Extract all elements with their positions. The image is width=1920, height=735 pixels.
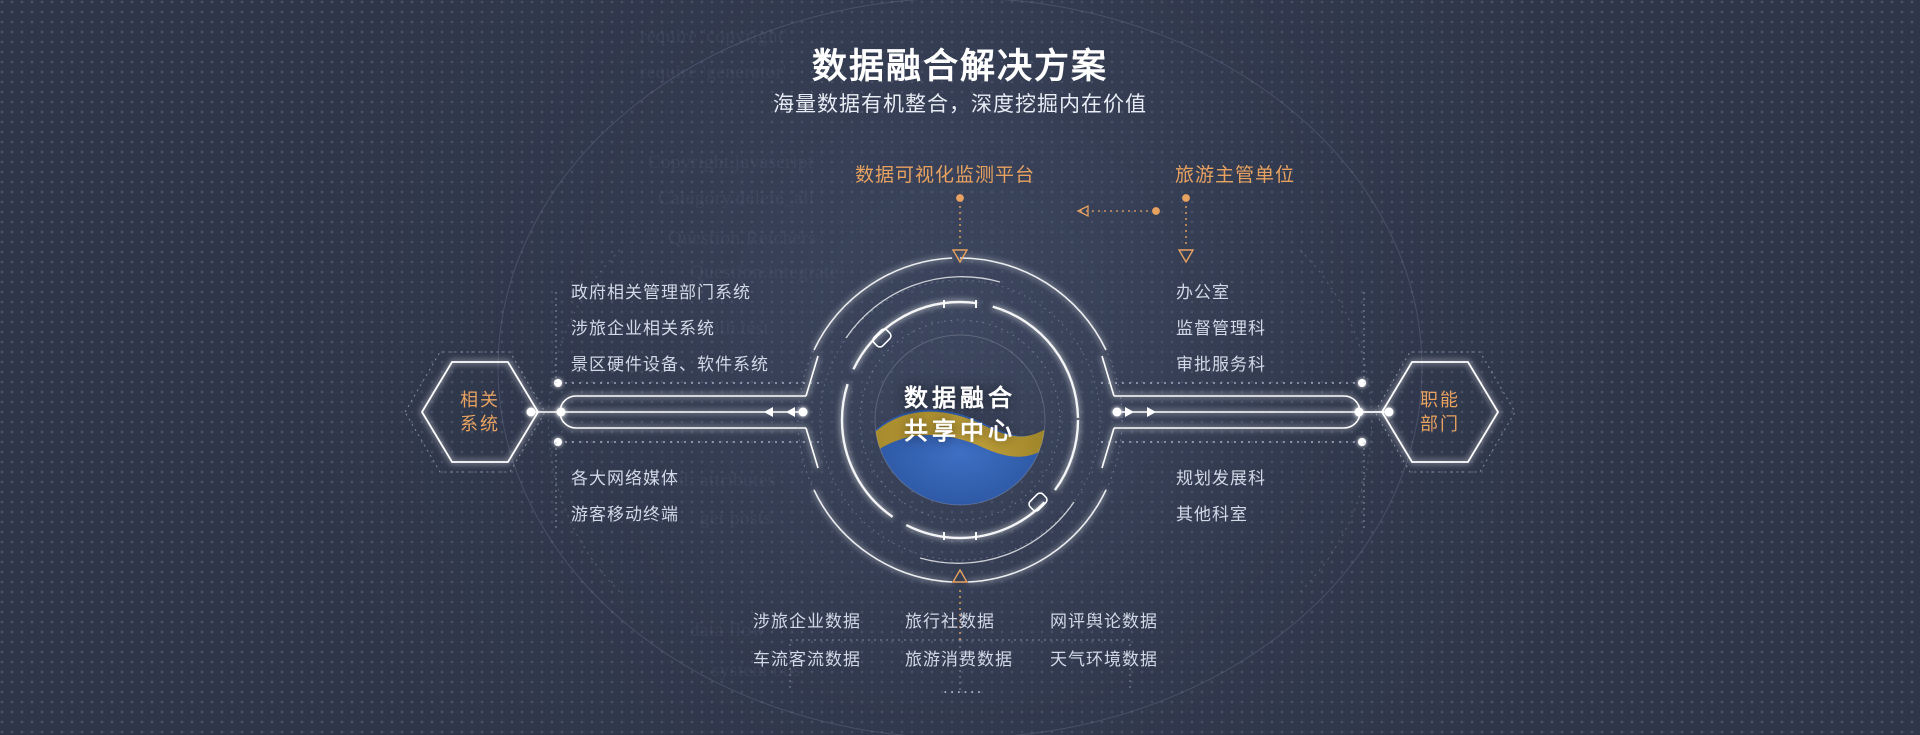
center-line-1: 数据融合 [815,382,1105,415]
bg-code-4: Category.delete_all [658,188,815,210]
node-tourism-authority[interactable]: 旅游主管单位 [1175,160,1295,187]
right-hexagon-node[interactable]: 职能 部门 [1375,353,1505,471]
infographic-canvas: require 'copyright' require 'generator' … [0,0,1920,735]
left-hexagon-line2: 系统 [460,412,500,436]
right-item-2: 审批服务科 [1176,350,1266,375]
left-item-2: 景区硬件设备、软件系统 [571,350,769,375]
right-connector-arrows [1113,407,1394,417]
left-connector-arrows [527,407,808,417]
node-data-visualization-platform[interactable]: 数据可视化监测平台 [855,160,1035,187]
bottom-item-3: 车流客流数据 [753,645,861,670]
left-item-1: 涉旅企业相关系统 [571,314,715,339]
bottom-item-2: 网评舆论数据 [1050,607,1158,632]
bottom-item-1: 旅行社数据 [905,607,995,632]
left-item-3: 各大网络媒体 [571,464,679,489]
bottom-item-0: 涉旅企业数据 [753,607,861,632]
orange-top-connector-right [1179,195,1193,262]
right-dotted-branches [1100,383,1362,442]
left-hexagon-line1: 相关 [460,388,500,412]
page-title: 数据融合解决方案 [0,38,1920,89]
orange-top-link [1078,206,1159,216]
right-item-0: 办公室 [1176,278,1230,303]
page-subtitle: 海量数据有机整合，深度挖掘内在价值 [0,88,1920,118]
left-branch-dots [554,379,562,446]
bottom-item-5: 天气环境数据 [1050,645,1158,670]
right-branch-dots [1358,379,1366,446]
bottom-ellipsis: ...... [943,678,983,698]
right-hexagon-line2: 部门 [1420,412,1460,436]
bg-code-5: Question.Retchers [668,228,816,250]
bottom-item-4: 旅游消费数据 [905,645,1013,670]
left-item-4: 游客移动终端 [571,500,679,525]
left-hexagon-text: 相关 系统 [415,353,545,471]
bg-code-9: get posts [700,508,772,530]
right-item-1: 监督管理科 [1176,314,1266,339]
ring-marker-bottom-right [1027,491,1048,512]
ring-marker-top-left [871,327,892,348]
left-dotted-branches [558,383,820,442]
right-hexagon-text: 职能 部门 [1375,353,1505,471]
center-line-2: 共享中心 [815,415,1105,448]
right-item-3: 规划发展科 [1176,464,1266,489]
right-item-4: 其他科室 [1176,500,1248,525]
bg-code-3: Copyright.javascript [648,152,814,174]
center-core-label: 数据融合 共享中心 [815,382,1105,448]
orange-top-connector-left [953,195,967,262]
left-hexagon-node[interactable]: 相关 系统 [415,353,545,471]
left-item-0: 政府相关管理部门系统 [571,278,751,303]
right-hexagon-line1: 职能 [1420,388,1460,412]
